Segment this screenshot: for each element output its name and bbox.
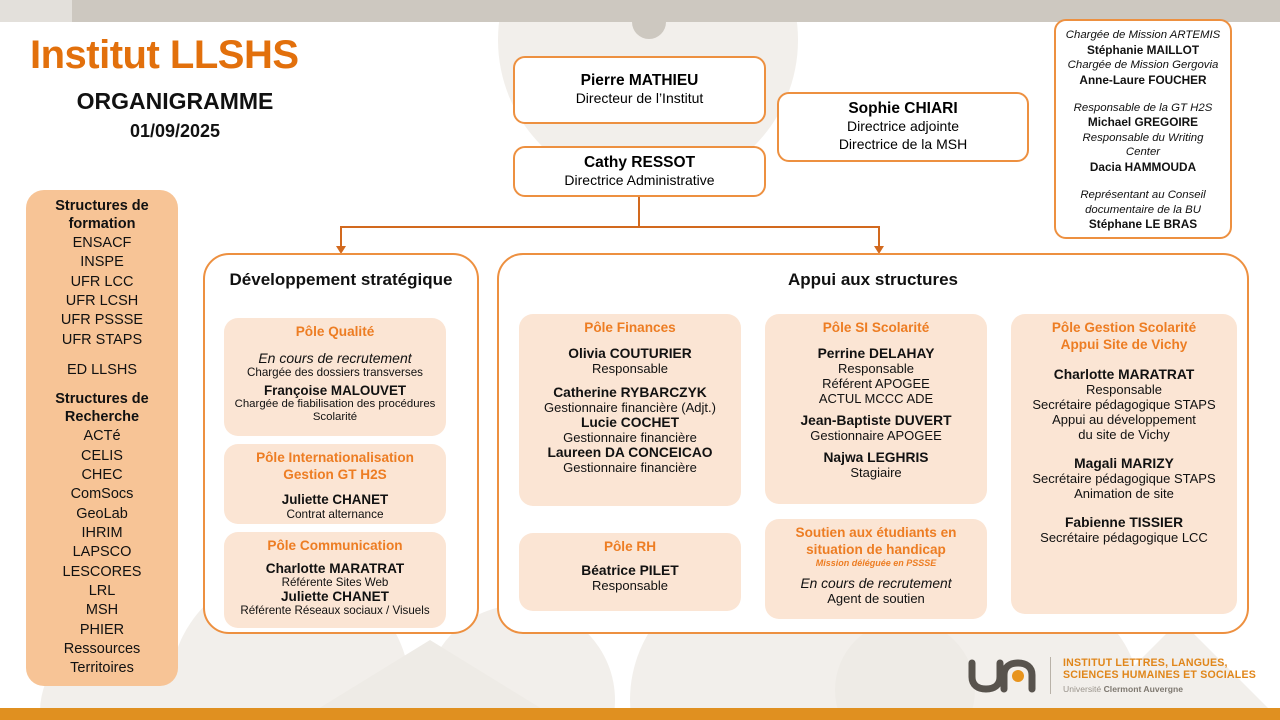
pole-finances-header: Pôle Finances	[525, 320, 735, 337]
pole-communication-person-2-role: Référente Réseaux sociaux / Visuels	[230, 604, 440, 617]
mission-name-writing-center: Dacia HAMMOUDA	[1064, 160, 1222, 175]
sidebar-item-ufr-pssse[interactable]: UFR PSSSE	[26, 311, 178, 330]
mission-name-artemis: Stéphanie MAILLOT	[1064, 43, 1222, 58]
sidebar-heading-recherche: Structures de Recherche	[26, 391, 178, 427]
sidebar-item-ufr-lcc[interactable]: UFR LCC	[26, 273, 178, 292]
admin-director-name: Cathy RESSOT	[584, 154, 695, 172]
pole-gestion-scolarite-vichy[interactable]: Pôle Gestion Scolarité Appui Site de Vic…	[1011, 314, 1237, 614]
mission-role-writing-center: Responsable du Writing Center	[1064, 131, 1222, 160]
pole-qualite-person-1-role: Chargée des dossiers transverses	[230, 366, 440, 379]
pole-gestion-gap-3	[1017, 501, 1231, 515]
sidebar-item-phier[interactable]: PHIER	[26, 621, 178, 640]
sidebar-item-geolab[interactable]: GeoLab	[26, 505, 178, 524]
sidebar-item-ihrim[interactable]: IHRIM	[26, 524, 178, 543]
mission-role-gth2s: Responsable de la GT H2S	[1064, 101, 1222, 116]
pole-internationalisation[interactable]: Pôle Internationalisation Gestion GT H2S…	[224, 444, 446, 524]
pole-finances-person-4-name: Laureen DA CONCEICAO	[525, 445, 735, 460]
pole-si-person-1-role-3: ACTUL MCCC ADE	[771, 391, 981, 406]
section-title-appui: Appui aux structures	[499, 270, 1247, 290]
pole-finances-person-2-name: Catherine RYBARCZYK	[525, 385, 735, 400]
pole-rh[interactable]: Pôle RH Béatrice PILET Responsable	[519, 533, 741, 611]
sidebar-item-inspe[interactable]: INSPE	[26, 253, 178, 272]
pole-qualite-gap	[230, 341, 440, 350]
sidebar-item-ressources[interactable]: Ressources	[26, 640, 178, 659]
mission-role-gergovia: Chargée de Mission Gergovia	[1064, 58, 1222, 73]
pole-communication[interactable]: Pôle Communication Charlotte MARATRAT Ré…	[224, 532, 446, 628]
logo-line-2: SCIENCES HUMAINES ET SOCIALES	[1063, 669, 1256, 682]
card-admin-director[interactable]: Cathy RESSOT Directrice Administrative	[513, 146, 766, 197]
deputy-role-2: Directrice de la MSH	[839, 136, 967, 154]
sidebar-item-lescores[interactable]: LESCORES	[26, 563, 178, 582]
pole-finances-person-3-name: Lucie COCHET	[525, 415, 735, 430]
pole-qualite-person-1-name: En cours de recrutement	[230, 350, 440, 366]
logo-line-1: INSTITUT LETTRES, LANGUES,	[1063, 657, 1256, 670]
pole-gestion-gap-2	[1017, 442, 1231, 456]
page-subtitle: ORGANIGRAMME	[30, 88, 320, 115]
connector-vertical-main	[638, 197, 640, 227]
logo-line-3: Université Clermont Auvergne	[1063, 684, 1256, 694]
director-name: Pierre MATHIEU	[581, 72, 699, 90]
connector-drop-left	[340, 226, 342, 248]
pole-si-person-2-role: Gestionnaire APOGEE	[771, 428, 981, 443]
pole-si-gap-3	[771, 443, 981, 450]
pole-internationalisation-person-1-name: Juliette CHANET	[230, 492, 440, 507]
sidebar-item-celis[interactable]: CELIS	[26, 447, 178, 466]
pole-internationalisation-header-line1: Pôle Internationalisation	[230, 450, 440, 467]
pole-si-scolarite-header: Pôle SI Scolarité	[771, 320, 981, 337]
pole-si-person-2-name: Jean-Baptiste DUVERT	[771, 413, 981, 428]
logo-line-3-prefix: Université	[1063, 684, 1104, 694]
pole-qualite-person-2-name: Françoise MALOUVET	[230, 383, 440, 398]
card-deputy-director[interactable]: Sophie CHIARI Directrice adjointe Direct…	[777, 92, 1029, 162]
section-title-dev: Développement stratégique	[205, 270, 477, 290]
pole-qualite-header: Pôle Qualité	[230, 324, 440, 341]
sidebar-item-ensacf[interactable]: ENSACF	[26, 234, 178, 253]
pole-gestion-person-1-role: Responsable	[1017, 382, 1231, 397]
organigramme-poster: Institut LLSHS ORGANIGRAMME 01/09/2025 S…	[0, 0, 1280, 720]
sidebar-item-territoires[interactable]: Territoires	[26, 659, 178, 678]
pole-soutien-person-1-name: En cours de recrutement	[771, 576, 981, 591]
sidebar-item-ed-llshs[interactable]: ED LLSHS	[26, 361, 178, 380]
pole-communication-person-2-name: Juliette CHANET	[230, 589, 440, 604]
pole-rh-person-1-role: Responsable	[525, 578, 735, 593]
pole-gestion-person-2-role: Secrétaire pédagogique STAPS	[1017, 471, 1231, 486]
sidebar-item-ufr-lcsh[interactable]: UFR LCSH	[26, 292, 178, 311]
page-date: 01/09/2025	[30, 121, 320, 142]
pole-gestion-person-2-role-2: Animation de site	[1017, 486, 1231, 501]
admin-director-role: Directrice Administrative	[564, 172, 714, 190]
mission-name-conseil-bu: Stéphane LE BRAS	[1064, 217, 1222, 232]
uca-logo: INSTITUT LETTRES, LANGUES, SCIENCES HUMA…	[968, 655, 1256, 695]
pole-communication-person-1-role: Référente Sites Web	[230, 576, 440, 589]
logo-line-3-bold: Clermont Auvergne	[1104, 684, 1183, 694]
sidebar-item-chec[interactable]: CHEC	[26, 466, 178, 485]
mission-role-artemis: Chargée de Mission ARTEMIS	[1064, 28, 1222, 43]
director-role: Directeur de l’Institut	[576, 90, 704, 108]
pole-qualite[interactable]: Pôle Qualité En cours de recrutement Cha…	[224, 318, 446, 436]
pole-gestion-header-line1: Pôle Gestion Scolarité	[1017, 320, 1231, 337]
sidebar-spacer-1	[26, 350, 178, 361]
pole-internationalisation-header-line2: Gestion GT H2S	[230, 467, 440, 484]
sidebar-item-lapsco[interactable]: LAPSCO	[26, 543, 178, 562]
pole-gestion-person-2-name: Magali MARIZY	[1017, 456, 1231, 471]
page-title: Institut LLSHS	[30, 33, 299, 78]
mission-role-conseil-bu: Représentant au Conseil documentaire de …	[1064, 188, 1222, 217]
deputy-role-1: Directrice adjointe	[847, 118, 959, 136]
pole-si-person-3-role: Stagiaire	[771, 465, 981, 480]
pole-si-gap-1	[771, 337, 981, 346]
pole-qualite-person-2-role: Chargée de fiabilisation des procédures …	[230, 398, 440, 425]
missions-gap-1	[1064, 88, 1222, 101]
pole-si-scolarite[interactable]: Pôle SI Scolarité Perrine DELAHAY Respon…	[765, 314, 987, 504]
pole-gestion-person-3-role: Secrétaire pédagogique LCC	[1017, 530, 1231, 545]
uca-logo-mark	[968, 655, 1040, 695]
pole-gestion-gap-1	[1017, 353, 1231, 367]
sidebar-item-lrl[interactable]: LRL	[26, 582, 178, 601]
bottom-accent-bar	[0, 708, 1280, 720]
sidebar-item-acte[interactable]: ACTé	[26, 427, 178, 446]
pole-finances-gap-1	[525, 337, 735, 346]
pole-finances-person-2-role: Gestionnaire financière (Adjt.)	[525, 400, 735, 415]
top-band-left	[0, 0, 72, 22]
pole-gestion-person-1-role-4: du site de Vichy	[1017, 427, 1231, 442]
pole-si-person-1-role: Responsable	[771, 361, 981, 376]
deputy-name: Sophie CHIARI	[848, 100, 957, 118]
pole-finances-gap-2	[525, 376, 735, 385]
pole-finances-person-4-role: Gestionnaire financière	[525, 460, 735, 475]
pole-finances-person-1-name: Olivia COUTURIER	[525, 346, 735, 361]
pole-rh-gap	[525, 556, 735, 563]
pole-finances-person-3-role: Gestionnaire financière	[525, 430, 735, 445]
pole-communication-person-1-name: Charlotte MARATRAT	[230, 561, 440, 576]
sidebar-item-msh[interactable]: MSH	[26, 601, 178, 620]
pole-soutien-header-sub: Mission déléguée en PSSSE	[771, 558, 981, 569]
pole-gestion-person-3-name: Fabienne TISSIER	[1017, 515, 1231, 530]
pole-soutien-person-1-role: Agent de soutien	[771, 591, 981, 606]
top-band-nub	[632, 22, 666, 39]
pole-gestion-person-1-name: Charlotte MARATRAT	[1017, 367, 1231, 382]
pole-gestion-header-line2: Appui Site de Vichy	[1017, 337, 1231, 354]
pole-si-person-1-role-2: Référent APOGEE	[771, 376, 981, 391]
pole-finances-person-1-role: Responsable	[525, 361, 735, 376]
pole-soutien-header-line2: situation de handicap	[771, 542, 981, 559]
sidebar-spacer-2	[26, 380, 178, 391]
pole-finances[interactable]: Pôle Finances Olivia COUTURIER Responsab…	[519, 314, 741, 506]
pole-rh-header: Pôle RH	[525, 539, 735, 556]
pole-si-person-3-name: Najwa LEGHRIS	[771, 450, 981, 465]
structures-sidebar: Structures de formation ENSACF INSPE UFR…	[26, 190, 178, 686]
pole-gestion-person-1-role-3: Appui au développement	[1017, 412, 1231, 427]
pole-internationalisation-gap	[230, 483, 440, 492]
pole-gestion-person-1-role-2: Secrétaire pédagogique STAPS	[1017, 397, 1231, 412]
pole-soutien-gap	[771, 569, 981, 576]
connector-horizontal-main	[340, 226, 880, 228]
pole-rh-person-1-name: Béatrice PILET	[525, 563, 735, 578]
mission-name-gergovia: Anne-Laure FOUCHER	[1064, 73, 1222, 88]
sidebar-item-comsocs[interactable]: ComSocs	[26, 485, 178, 504]
pole-internationalisation-person-1-role: Contrat alternance	[230, 507, 440, 521]
sidebar-heading-formation: Structures de formation	[26, 198, 178, 234]
pole-si-person-1-name: Perrine DELAHAY	[771, 346, 981, 361]
mission-name-gth2s: Michael GREGOIRE	[1064, 115, 1222, 130]
pole-soutien-handicap[interactable]: Soutien aux étudiants en situation de ha…	[765, 519, 987, 619]
pole-communication-header: Pôle Communication	[230, 538, 440, 555]
pole-soutien-header-line1: Soutien aux étudiants en	[771, 525, 981, 542]
pole-si-gap-2	[771, 406, 981, 413]
connector-drop-right	[878, 226, 880, 248]
uca-logo-text: INSTITUT LETTRES, LANGUES, SCIENCES HUMA…	[1050, 657, 1256, 694]
card-director[interactable]: Pierre MATHIEU Directeur de l’Institut	[513, 56, 766, 124]
missions-gap-2	[1064, 175, 1222, 188]
card-missions[interactable]: Chargée de Mission ARTEMIS Stéphanie MAI…	[1054, 19, 1232, 239]
sidebar-item-ufr-staps[interactable]: UFR STAPS	[26, 331, 178, 350]
